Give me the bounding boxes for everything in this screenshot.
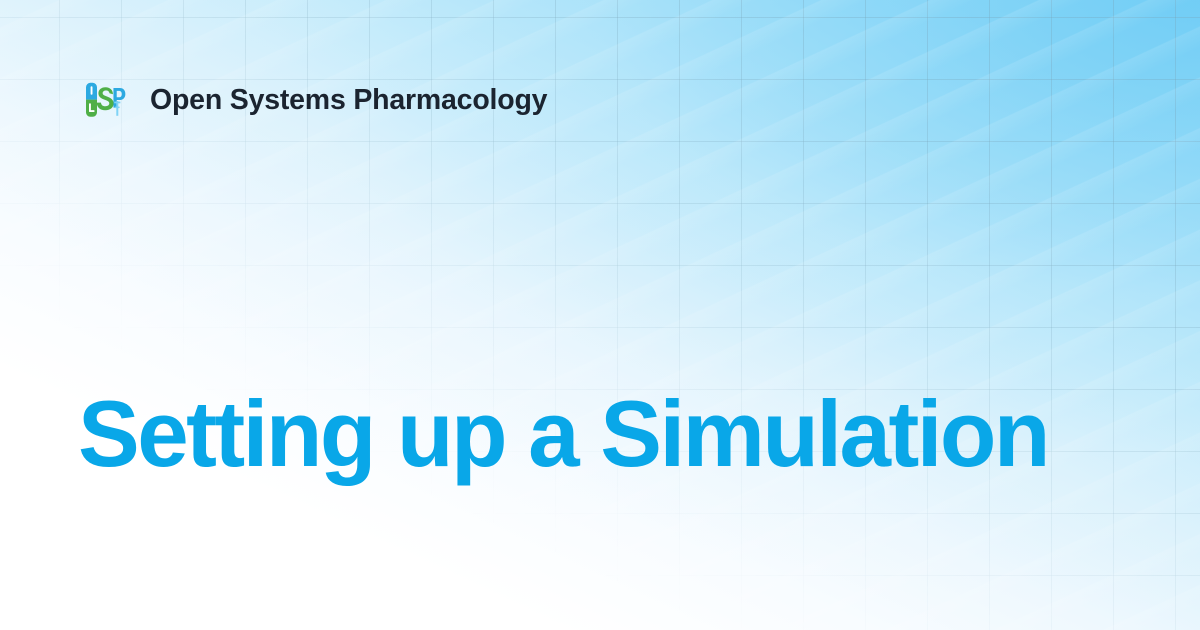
letter-p-glyph [113,88,125,116]
page-title: Setting up a Simulation [78,387,1048,481]
letter-s-glyph [97,87,114,110]
social-preview-card: Open Systems Pharmacology Setting up a S… [0,0,1200,630]
osp-capsule-logo-icon [82,80,128,120]
capsule-o-glyph [86,83,97,117]
brand-lockup: Open Systems Pharmacology [82,80,547,120]
card-content: Open Systems Pharmacology Setting up a S… [0,0,1200,630]
brand-name-text: Open Systems Pharmacology [150,80,547,120]
